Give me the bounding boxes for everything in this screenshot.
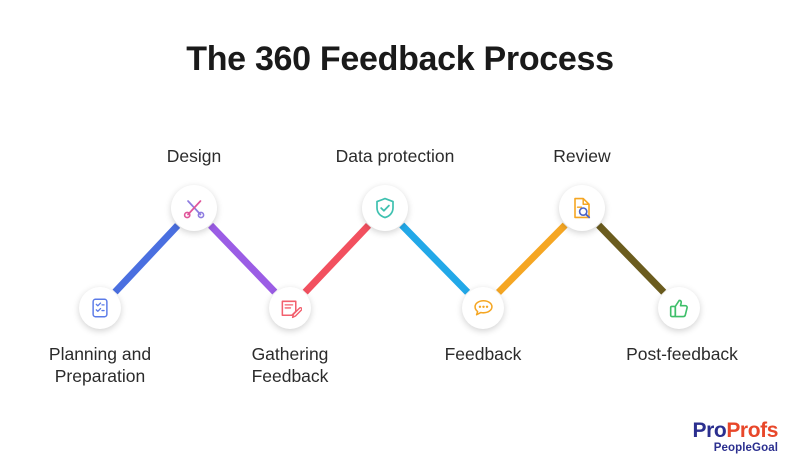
- scissors-icon: [182, 196, 206, 220]
- logo-pro-text: Pro: [693, 419, 727, 442]
- step-node-data-protection[interactable]: [362, 185, 408, 231]
- logo-peoplegoal-text: PeopleGoal: [693, 443, 779, 455]
- checklist-icon: [89, 297, 111, 319]
- chat-bubble-icon: [472, 297, 495, 320]
- shield-check-icon: [373, 196, 397, 220]
- step-node-design[interactable]: [171, 185, 217, 231]
- brand-logo: ProProfs PeopleGoal: [693, 420, 779, 455]
- connector-planning-to-design: [115, 226, 178, 293]
- document-search-icon: [570, 196, 594, 220]
- step-label-review: Review: [467, 146, 697, 168]
- step-node-planning[interactable]: [79, 287, 121, 329]
- step-node-feedback[interactable]: [462, 287, 504, 329]
- logo-profs-text: Profs: [726, 419, 778, 442]
- logo-proprofs: ProProfs: [693, 419, 779, 442]
- step-label-design: Design: [79, 146, 309, 168]
- connector-review-to-post-feedback: [599, 225, 664, 292]
- connector-lines: [0, 0, 800, 472]
- step-label-post-feedback: Post-feedback: [567, 344, 797, 366]
- connector-data-protection-to-feedback: [402, 225, 468, 292]
- thumbs-up-icon: [668, 297, 691, 320]
- connector-feedback-to-review: [499, 225, 566, 292]
- connector-design-to-gathering-feedback: [211, 225, 275, 292]
- step-node-gathering-feedback[interactable]: [269, 287, 311, 329]
- step-node-review[interactable]: [559, 185, 605, 231]
- step-node-post-feedback[interactable]: [658, 287, 700, 329]
- infographic-canvas: The 360 Feedback Process: [0, 0, 800, 472]
- note-edit-icon: [279, 297, 302, 320]
- step-label-feedback: Feedback: [368, 344, 598, 366]
- connector-gathering-feedback-to-data-protection: [305, 225, 368, 292]
